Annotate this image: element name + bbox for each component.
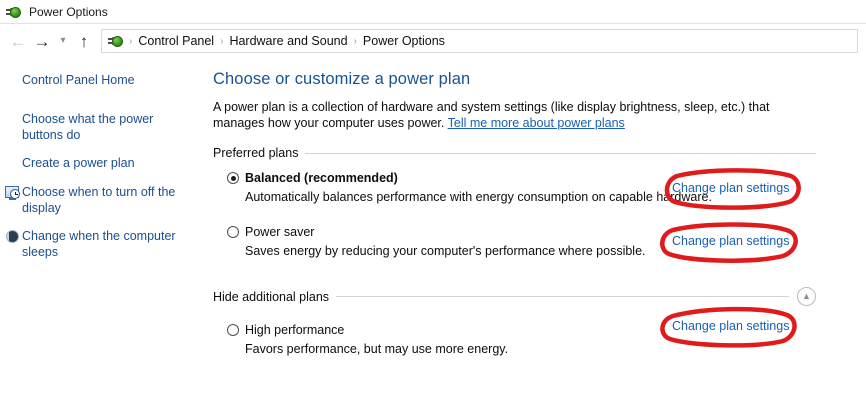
window-title-bar: Power Options — [0, 0, 866, 24]
radio-high-performance[interactable] — [227, 324, 239, 336]
section-rule — [305, 153, 816, 154]
back-arrow-icon[interactable]: ← — [6, 29, 30, 53]
sidebar: Control Panel Home Choose what the power… — [0, 58, 213, 420]
preferred-plans-header: Preferred plans — [213, 146, 816, 160]
chevron-down-icon[interactable]: ▾ — [54, 29, 72, 53]
chevron-up-circle-icon[interactable]: ▲ — [797, 287, 816, 306]
change-plan-settings-power-saver[interactable]: Change plan settings — [672, 234, 789, 248]
no-icon — [4, 73, 22, 89]
radio-power-saver[interactable] — [227, 226, 239, 238]
tell-me-more-link[interactable]: Tell me more about power plans — [448, 116, 625, 130]
page-title: Choose or customize a power plan — [213, 70, 816, 89]
sidebar-item-label: Control Panel Home — [22, 72, 135, 88]
additional-plans-header: Hide additional plans ▲ — [213, 287, 816, 306]
plan-name: Balanced (recommended) — [245, 171, 398, 185]
sidebar-item-create-power-plan[interactable]: Create a power plan — [0, 155, 213, 172]
change-plan-settings-high-performance[interactable]: Change plan settings — [672, 319, 789, 333]
breadcrumb-separator: › — [126, 36, 135, 47]
plan-name: High performance — [245, 323, 344, 337]
no-icon — [4, 112, 22, 128]
sidebar-item-label: Change when the computer sleeps — [22, 228, 187, 260]
window-title: Power Options — [29, 5, 108, 19]
moon-sleep-icon — [4, 229, 22, 245]
display-clock-icon — [4, 185, 22, 201]
address-bar[interactable]: › Control Panel › Hardware and Sound › P… — [101, 29, 858, 53]
sidebar-item-label: Choose when to turn off the display — [22, 184, 187, 216]
navigation-bar: ← → ▾ ↑ › Control Panel › Hardware and S… — [0, 24, 866, 58]
plan-description: Favors performance, but may use more ene… — [245, 341, 816, 357]
forward-arrow-icon[interactable]: → — [30, 29, 54, 53]
sidebar-item-turn-off-display[interactable]: Choose when to turn off the display — [0, 184, 213, 216]
section-rule — [336, 296, 789, 297]
up-arrow-icon[interactable]: ↑ — [72, 29, 96, 53]
sidebar-item-choose-power-buttons[interactable]: Choose what the power buttons do — [0, 111, 213, 143]
section-label: Preferred plans — [213, 146, 305, 160]
sidebar-item-label: Create a power plan — [22, 155, 135, 171]
radio-balanced[interactable] — [227, 172, 239, 184]
change-plan-settings-balanced[interactable]: Change plan settings — [672, 181, 789, 195]
breadcrumb-separator: › — [217, 36, 226, 47]
breadcrumb-control-panel[interactable]: Control Panel — [135, 34, 217, 48]
plan-name: Power saver — [245, 225, 314, 239]
intro-paragraph: A power plan is a collection of hardware… — [213, 99, 791, 131]
address-power-plug-icon — [108, 33, 124, 49]
power-plug-icon — [6, 4, 22, 20]
sidebar-item-computer-sleeps[interactable]: Change when the computer sleeps — [0, 228, 213, 260]
no-icon — [4, 156, 22, 172]
breadcrumb-hardware-and-sound[interactable]: Hardware and Sound — [226, 34, 350, 48]
sidebar-item-label: Choose what the power buttons do — [22, 111, 187, 143]
section-label: Hide additional plans — [213, 290, 336, 304]
breadcrumb-power-options[interactable]: Power Options — [360, 34, 448, 48]
breadcrumb-separator: › — [351, 36, 360, 47]
sidebar-item-control-panel-home[interactable]: Control Panel Home — [0, 72, 213, 89]
